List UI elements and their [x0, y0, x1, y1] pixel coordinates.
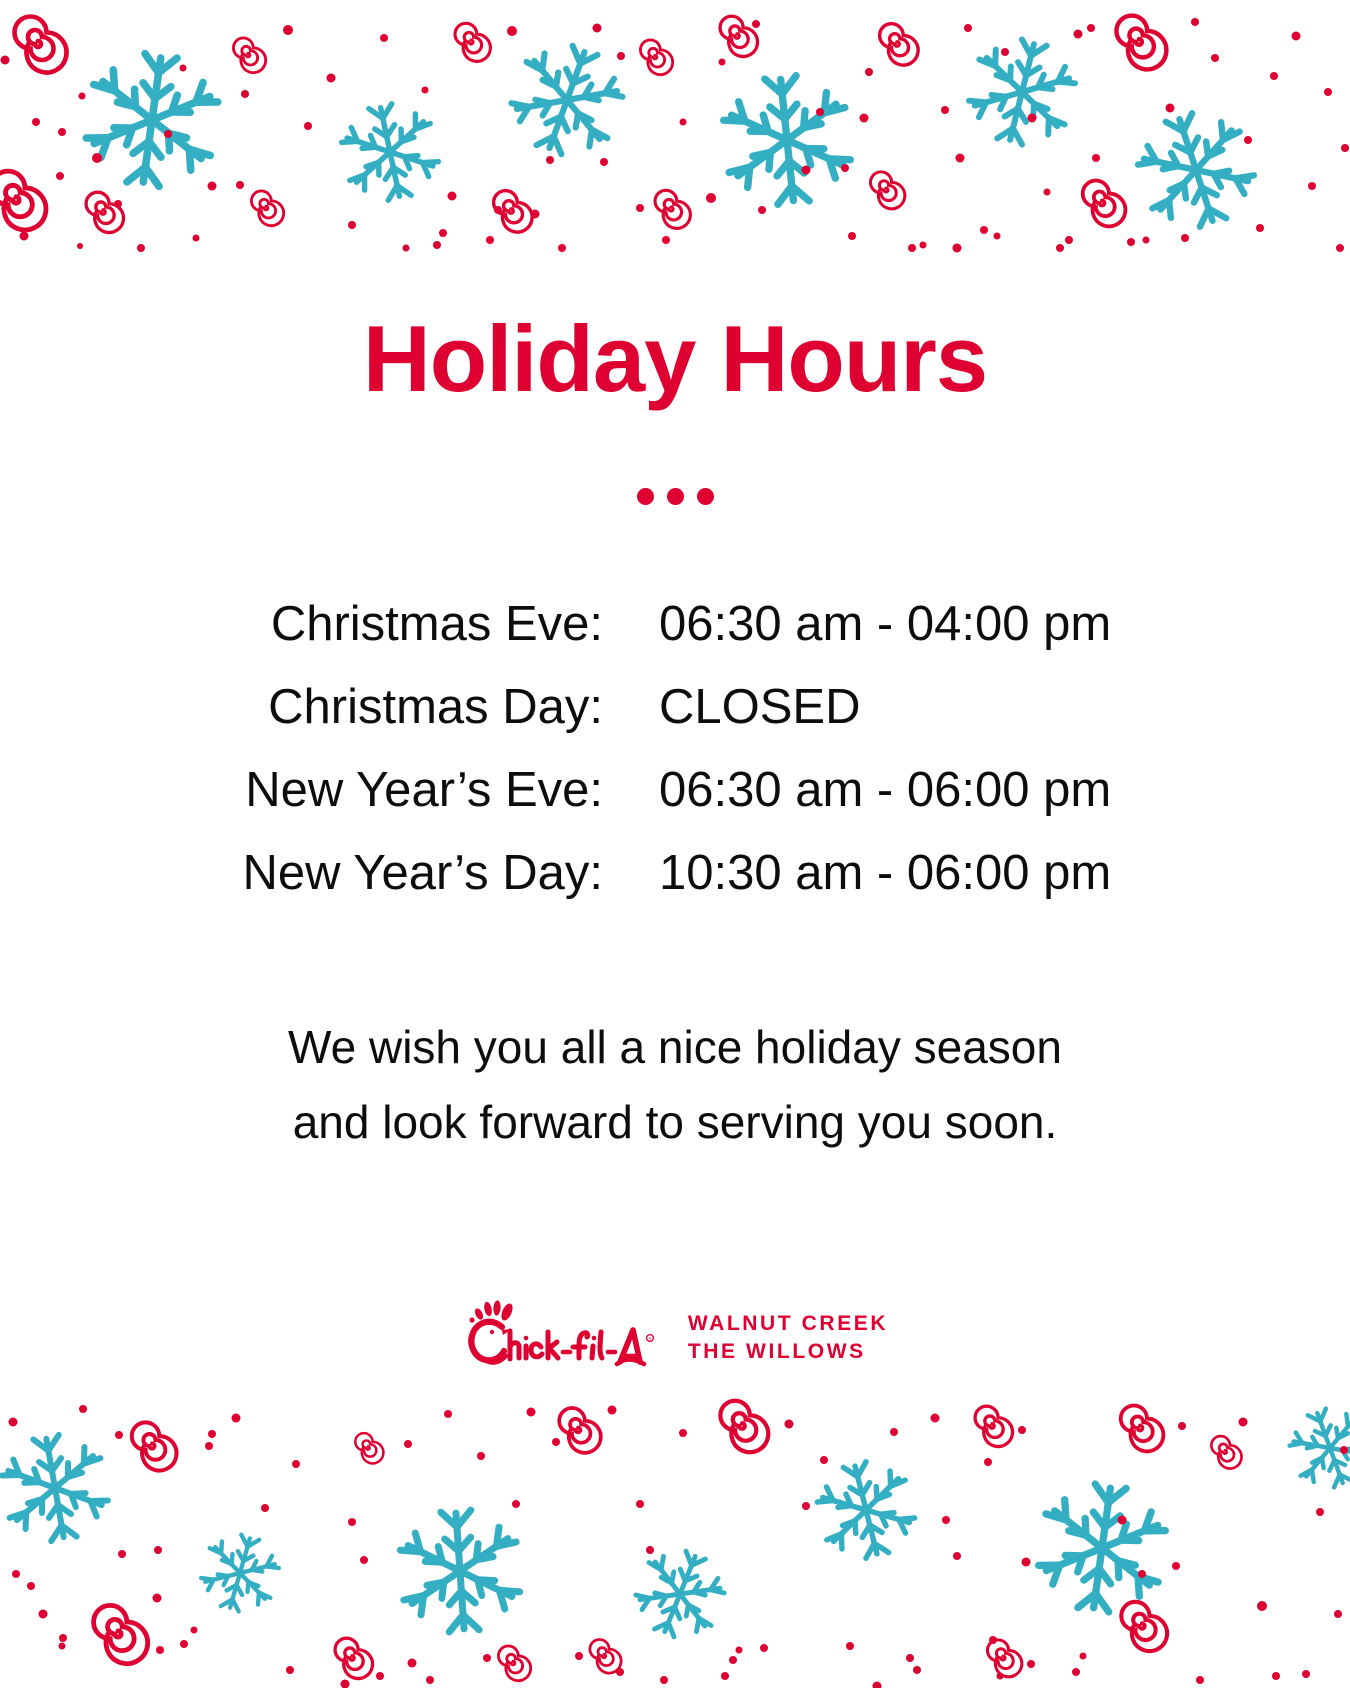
holiday-message: We wish you all a nice holiday season an…: [0, 1010, 1350, 1159]
snowflake-icon: [627, 1540, 734, 1648]
snowflake-icon: [398, 1507, 522, 1635]
holiday-message-line-2: and look forward to serving you soon.: [0, 1085, 1350, 1160]
snowflake-icon: [1034, 1478, 1171, 1618]
dot-separator: [0, 488, 1350, 505]
page-title-wrap: Holiday Hours: [0, 312, 1350, 406]
store-location-line-2: THE WILLOWS: [688, 1338, 888, 1366]
separator-dot: [667, 488, 684, 505]
spiral-icon: [1121, 1405, 1164, 1451]
confetti-dots: [9, 1405, 1349, 1688]
snowflake-icon: [720, 71, 854, 209]
svg-text:R: R: [648, 1336, 651, 1341]
snowflake-icon: [1282, 1399, 1350, 1497]
spiral-icon: [880, 24, 918, 65]
spiral-icon: [233, 38, 265, 73]
confetti-dots: [1, 18, 1350, 253]
spiral-icon: [1121, 1602, 1167, 1651]
spiral-icon: [987, 1640, 1021, 1677]
spiral-icon: [0, 171, 46, 230]
spiral-icon: [251, 191, 283, 226]
hours-day-label: New Year’s Day:: [235, 849, 603, 898]
hours-day-label: Christmas Day:: [235, 683, 603, 732]
holiday-hours-list: Christmas Eve: 06:30 am - 04:00 pm Chris…: [0, 600, 1350, 932]
spiral-icon: [655, 190, 690, 228]
snowflake-icon: [0, 1429, 113, 1548]
spiral-icon: [455, 23, 490, 61]
spiral-icon: [640, 40, 672, 75]
hours-time-value: CLOSED: [603, 683, 1115, 732]
hours-row: New Year’s Day: 10:30 am - 06:00 pm: [235, 849, 1115, 898]
top-decorative-border: [0, 0, 1350, 265]
spiral-icon: [132, 1422, 177, 1470]
hours-row: Christmas Eve: 06:30 am - 04:00 pm: [235, 600, 1115, 649]
snowflake-icon: [336, 97, 444, 207]
spiral-icon: [975, 1406, 1012, 1446]
spiral-icon: [1083, 180, 1126, 226]
spiral-icon: [870, 172, 904, 209]
spiral-icon: [498, 1646, 530, 1681]
bottom-decorative-border: [0, 1388, 1350, 1688]
spiral-icon: [1211, 1436, 1241, 1468]
store-location-line-1: WALNUT CREEK: [688, 1310, 888, 1338]
spiral-icon: [590, 1640, 621, 1674]
hours-day-label: Christmas Eve:: [235, 600, 603, 649]
footer-branding: R WALNUT CREEK THE WILLOWS: [0, 1300, 1350, 1378]
holiday-hours-poster: Holiday Hours Christmas Eve: 06:30 am - …: [0, 0, 1350, 1688]
hours-row: New Year’s Eve: 06:30 am - 06:00 pm: [235, 766, 1115, 815]
hours-time-value: 06:30 am - 04:00 pm: [603, 600, 1115, 649]
snowflake-icon: [962, 31, 1082, 154]
spiral-icon: [720, 1401, 768, 1453]
spiral-icon: [355, 1433, 383, 1463]
spiral-icon: [559, 1408, 601, 1453]
spiral-icon: [94, 1605, 148, 1663]
spiral-icon: [1116, 16, 1166, 70]
snowflake-icon: [1128, 101, 1264, 239]
snowflake-icon: [501, 33, 633, 167]
page-title: Holiday Hours: [0, 312, 1350, 406]
spiral-icon: [494, 191, 532, 232]
separator-dot: [697, 488, 714, 505]
snowflake-icon: [811, 1454, 921, 1567]
store-location-name: WALNUT CREEK THE WILLOWS: [688, 1310, 888, 1369]
spiral-icon: [15, 17, 67, 73]
chick-fil-a-logo-icon: R: [462, 1300, 662, 1378]
snowflake-icon: [81, 47, 223, 193]
spiral-icon: [86, 192, 123, 232]
holiday-message-line-1: We wish you all a nice holiday season: [0, 1010, 1350, 1085]
spiral-icon: [335, 1638, 372, 1678]
separator-dot: [637, 488, 654, 505]
hours-time-value: 10:30 am - 06:00 pm: [603, 849, 1115, 898]
snowflake-icon: [195, 1527, 285, 1618]
hours-row: Christmas Day: CLOSED: [235, 683, 1115, 732]
spiral-icon: [720, 16, 757, 56]
hours-day-label: New Year’s Eve:: [235, 766, 603, 815]
hours-time-value: 06:30 am - 06:00 pm: [603, 766, 1115, 815]
